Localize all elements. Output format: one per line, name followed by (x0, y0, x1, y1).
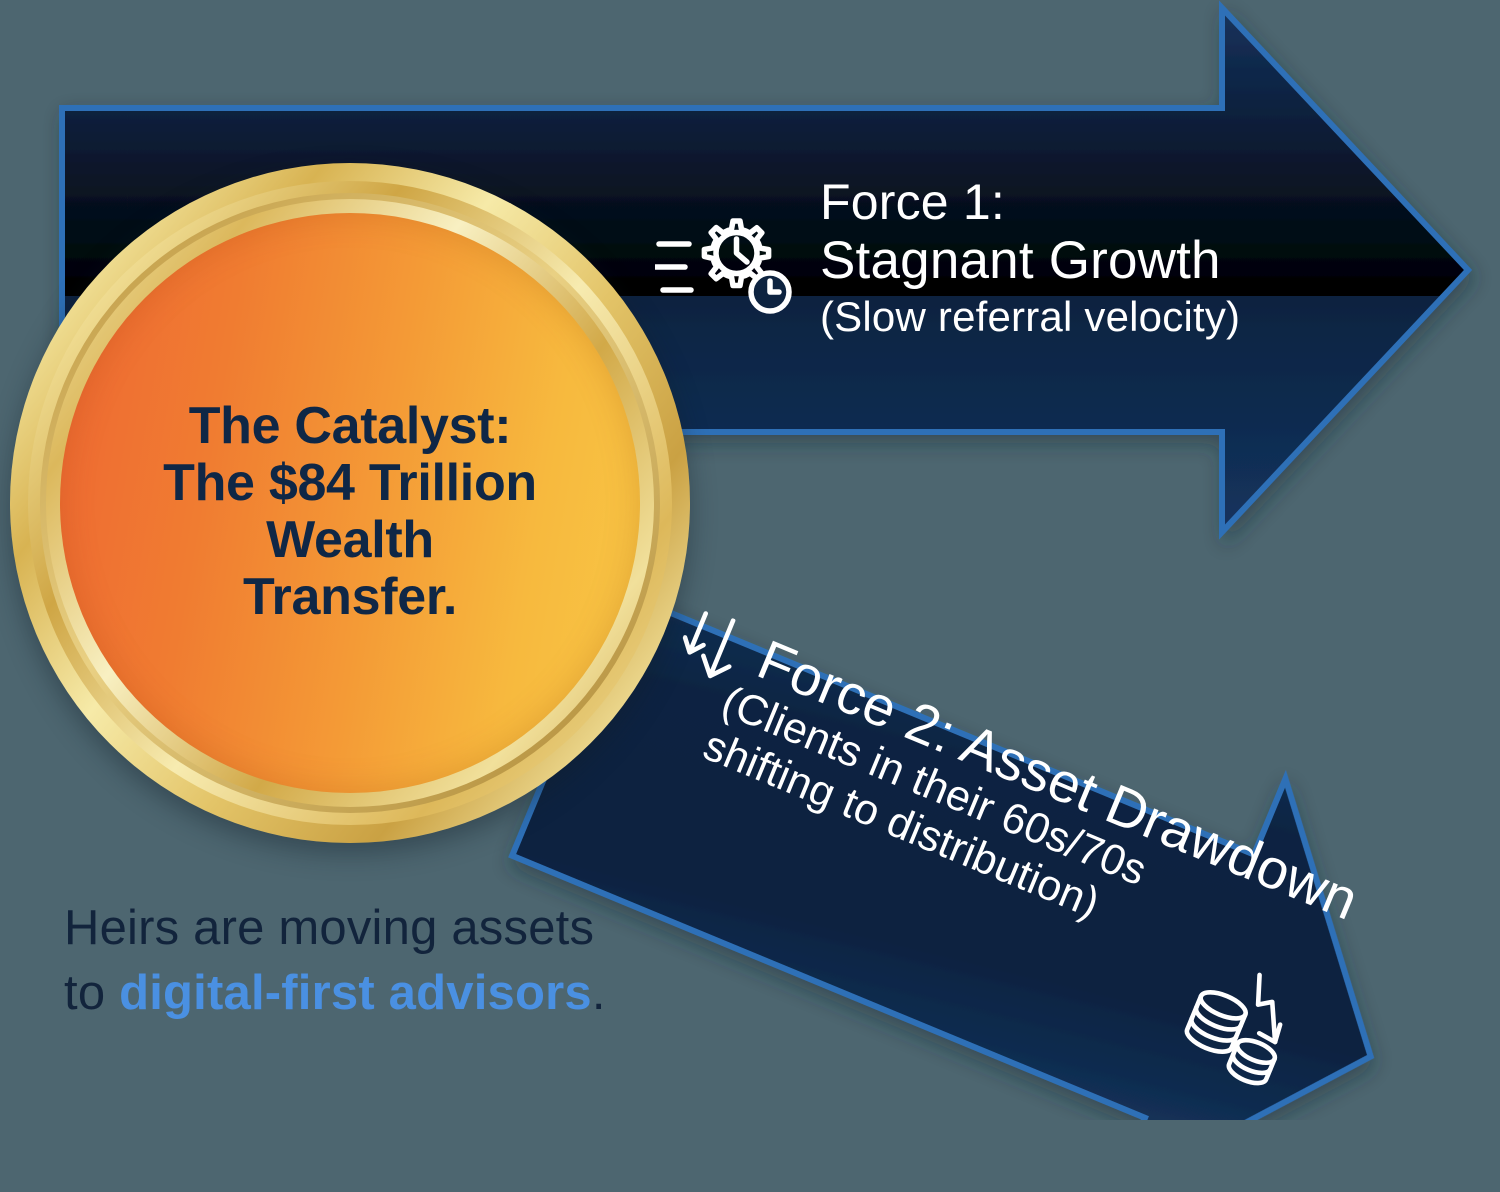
catalyst-coin: The Catalyst: The $84 Trillion Wealth Tr… (10, 163, 690, 843)
force1-headline: Stagnant Growth (820, 233, 1380, 289)
coin-line-1: The Catalyst: (189, 397, 512, 455)
coin-line-2: The $84 Trillion (163, 454, 537, 512)
caption-block: Heirs are moving assets to digital-first… (64, 896, 824, 1025)
force1-label: Force 1: (820, 176, 1380, 229)
caption-highlight: digital-first advisors (119, 966, 592, 1020)
coin-face: The Catalyst: The $84 Trillion Wealth Tr… (60, 213, 640, 793)
force1-subtext: (Slow referral velocity) (820, 295, 1380, 340)
coin-line-4: Transfer. (243, 568, 457, 626)
coin-line-3: Wealth (266, 511, 434, 569)
caption-prefix: to (64, 966, 119, 1020)
infographic-canvas: Force 1: Stagnant Growth (Slow referral … (0, 0, 1500, 1120)
caption-suffix: . (592, 966, 606, 1020)
coin-text: The Catalyst: The $84 Trillion Wealth Tr… (60, 398, 640, 627)
caption-line-2: to digital-first advisors. (64, 961, 824, 1026)
caption-line-1: Heirs are moving assets (64, 896, 824, 961)
force1-text-block: Force 1: Stagnant Growth (Slow referral … (820, 176, 1380, 340)
